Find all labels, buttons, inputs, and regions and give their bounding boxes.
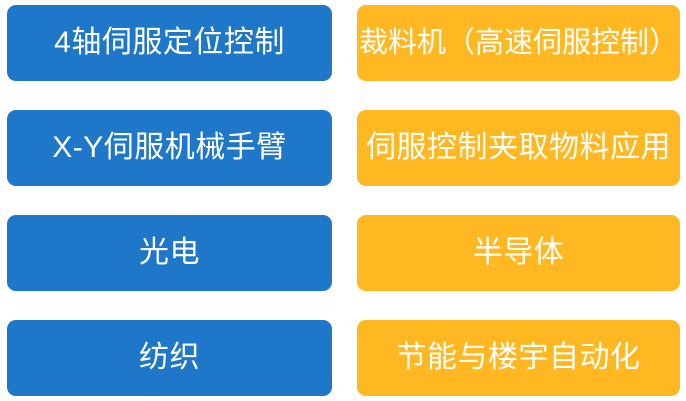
application-pill-material-pickup[interactable]: 伺服控制夹取物料应用 bbox=[357, 110, 680, 186]
diagram-row-2: X-Y伺服机械手臂 伺服控制夹取物料应用 bbox=[0, 110, 686, 186]
application-pill-label: 4轴伺服定位控制 bbox=[54, 28, 285, 58]
application-pill-label: X-Y伺服机械手臂 bbox=[52, 133, 287, 163]
application-pill-servo-positioning[interactable]: 4轴伺服定位控制 bbox=[7, 5, 332, 81]
application-pill-semiconductor[interactable]: 半导体 bbox=[357, 215, 680, 291]
application-pill-label: 半导体 bbox=[473, 238, 565, 268]
diagram-row-1: 4轴伺服定位控制 裁料机（高速伺服控制） bbox=[0, 5, 686, 81]
application-pill-label: 节能与楼宇自动化 bbox=[397, 343, 641, 373]
application-pill-label: 光电 bbox=[139, 238, 200, 268]
application-pill-cutting-machine[interactable]: 裁料机（高速伺服控制） bbox=[357, 5, 680, 81]
application-pill-optoelectronics[interactable]: 光电 bbox=[7, 215, 332, 291]
application-area-diagram: 4轴伺服定位控制 裁料机（高速伺服控制） X-Y伺服机械手臂 伺服控制夹取物料应… bbox=[0, 0, 686, 401]
application-pill-xy-robot-arm[interactable]: X-Y伺服机械手臂 bbox=[7, 110, 332, 186]
application-pill-label: 纺织 bbox=[139, 343, 200, 373]
application-pill-label: 裁料机（高速伺服控制） bbox=[359, 29, 678, 58]
application-pill-label: 伺服控制夹取物料应用 bbox=[366, 133, 671, 163]
diagram-row-4: 纺织 节能与楼宇自动化 bbox=[0, 320, 686, 396]
application-pill-building-automation[interactable]: 节能与楼宇自动化 bbox=[357, 320, 680, 396]
application-pill-textile[interactable]: 纺织 bbox=[7, 320, 332, 396]
diagram-row-3: 光电 半导体 bbox=[0, 215, 686, 291]
